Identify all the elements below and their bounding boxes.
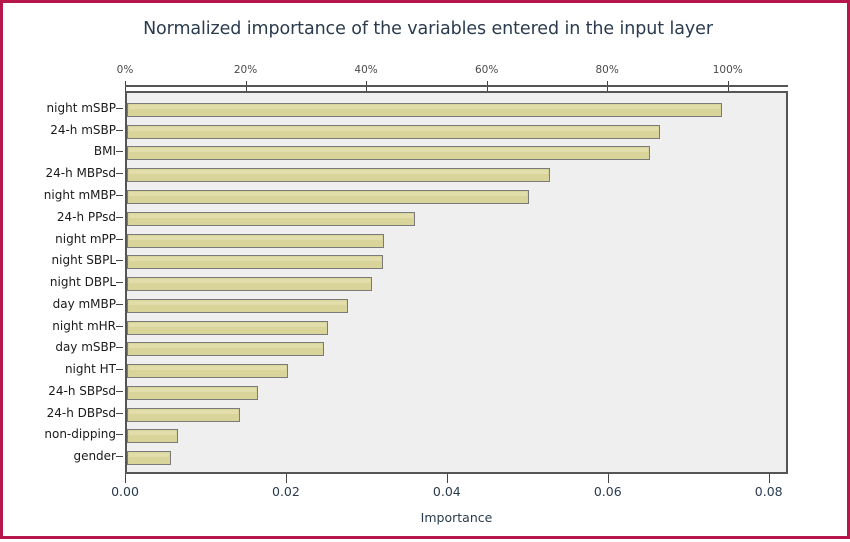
x-axis-tick-label: 0.00 xyxy=(111,484,139,499)
y-axis-tick xyxy=(116,108,123,109)
bar-row xyxy=(127,190,790,204)
bar-row xyxy=(127,408,790,422)
y-axis-category-labels: night mSBP24-h mSBPBMI24-h MBPsdnight mM… xyxy=(3,91,125,474)
y-axis-tick-label: 24-h PPsd xyxy=(57,210,116,224)
bottom-importance-axis: 0.000.020.040.060.08 xyxy=(125,474,788,504)
y-axis-tick-label: day mSBP xyxy=(55,340,116,354)
bar xyxy=(127,321,328,335)
bars-layer xyxy=(127,93,786,472)
y-axis-tick-label: night DBPL xyxy=(50,275,116,289)
y-axis-tick-label: night mSBP xyxy=(47,101,116,115)
y-axis-tick-label: gender xyxy=(73,449,116,463)
x-axis-tick xyxy=(769,474,770,483)
y-axis-tick-label: 24-h MBPsd xyxy=(46,166,117,180)
top-axis-line xyxy=(125,85,788,87)
bar-row xyxy=(127,277,790,291)
bar-row xyxy=(127,299,790,313)
bar xyxy=(127,408,240,422)
y-axis-tick-label: 24-h DBPsd xyxy=(47,406,116,420)
bar xyxy=(127,103,722,117)
bar-row xyxy=(127,451,790,465)
y-axis-tick xyxy=(116,456,123,457)
bar xyxy=(127,125,660,139)
y-axis-tick xyxy=(116,391,123,392)
bar-row xyxy=(127,168,790,182)
y-axis-tick xyxy=(116,151,123,152)
top-axis-tick-label: 100% xyxy=(713,64,743,76)
x-axis-tick xyxy=(286,474,287,483)
bar xyxy=(127,146,650,160)
top-axis-tick-label: 20% xyxy=(234,64,257,76)
y-axis-tick xyxy=(116,239,123,240)
bar xyxy=(127,299,348,313)
bar-row xyxy=(127,429,790,443)
bar-row xyxy=(127,364,790,378)
bar xyxy=(127,342,324,356)
y-axis-tick-label: 24-h mSBP xyxy=(50,123,116,137)
bar xyxy=(127,364,288,378)
y-axis-tick-label: day mMBP xyxy=(53,297,116,311)
x-axis-tick-label: 0.06 xyxy=(594,484,622,499)
x-axis-tick-label: 0.02 xyxy=(272,484,300,499)
x-axis-tick xyxy=(447,474,448,483)
y-axis-tick xyxy=(116,326,123,327)
y-axis-tick-label: night mHR xyxy=(52,319,116,333)
y-axis-tick-label: night HT xyxy=(65,362,116,376)
bar-row xyxy=(127,321,790,335)
bar xyxy=(127,429,178,443)
chart-title: Normalized importance of the variables e… xyxy=(3,19,850,39)
y-axis-tick-label: BMI xyxy=(94,144,116,158)
y-axis-tick xyxy=(116,173,123,174)
bar-row xyxy=(127,103,790,117)
x-axis-tick xyxy=(608,474,609,483)
y-axis-tick-label: 24-h SBPsd xyxy=(48,384,116,398)
plot-area xyxy=(125,91,788,474)
y-axis-tick-label: night SBPL xyxy=(52,253,116,267)
bar-row xyxy=(127,125,790,139)
bar-row xyxy=(127,255,790,269)
y-axis-tick-label: night mMBP xyxy=(44,188,116,202)
bar-row xyxy=(127,342,790,356)
y-axis-tick xyxy=(116,217,123,218)
y-axis-tick-label: non-dipping xyxy=(44,427,116,441)
y-axis-tick xyxy=(116,413,123,414)
y-axis-tick xyxy=(116,304,123,305)
bar xyxy=(127,386,258,400)
y-axis-tick xyxy=(116,195,123,196)
y-axis-tick xyxy=(116,130,123,131)
top-axis-tick-label: 60% xyxy=(475,64,498,76)
bar-row xyxy=(127,234,790,248)
y-axis-tick xyxy=(116,434,123,435)
top-axis-tick-label: 0% xyxy=(117,64,134,76)
bar xyxy=(127,277,372,291)
y-axis-tick xyxy=(116,260,123,261)
bar xyxy=(127,234,384,248)
y-axis-tick xyxy=(116,369,123,370)
top-axis-tick-label: 40% xyxy=(354,64,377,76)
top-axis-tick-label: 80% xyxy=(596,64,619,76)
x-axis-tick-label: 0.04 xyxy=(433,484,461,499)
y-axis-tick xyxy=(116,347,123,348)
x-axis-label: Importance xyxy=(125,510,788,525)
figure-border: Normalized importance of the variables e… xyxy=(0,0,850,539)
chart-figure: Normalized importance of the variables e… xyxy=(3,3,850,542)
y-axis-tick-label: night mPP xyxy=(55,232,116,246)
bar-row xyxy=(127,212,790,226)
x-axis-tick-label: 0.08 xyxy=(755,484,783,499)
bar xyxy=(127,451,171,465)
bar-row xyxy=(127,146,790,160)
bar-row xyxy=(127,386,790,400)
bar xyxy=(127,255,383,269)
bar xyxy=(127,212,415,226)
x-axis-tick xyxy=(125,474,126,483)
y-axis-tick xyxy=(116,282,123,283)
top-percent-axis: 0%20%40%60%80%100% xyxy=(125,75,788,91)
bar xyxy=(127,190,529,204)
bar xyxy=(127,168,550,182)
